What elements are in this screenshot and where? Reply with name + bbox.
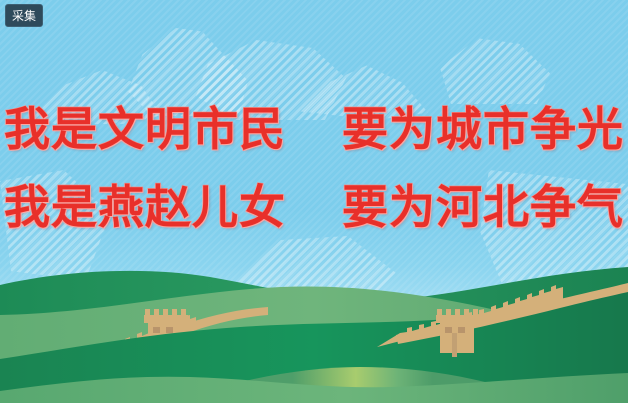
slogan-line-1: 我是文明市民 要为城市争光 bbox=[0, 106, 628, 152]
landscape-illustration bbox=[0, 263, 628, 403]
slogan-line-2-left: 我是燕赵儿女 bbox=[4, 180, 286, 234]
slogan-line-1-right: 要为城市争光 bbox=[342, 102, 624, 156]
banner-canvas: 我是文明市民 要为城市争光 我是燕赵儿女 要为河北争气 bbox=[0, 0, 628, 403]
slogan-line-1-left: 我是文明市民 bbox=[4, 102, 286, 156]
capture-button[interactable]: 采集 bbox=[5, 4, 43, 27]
slogan-line-2-right: 要为河北争气 bbox=[342, 180, 624, 234]
slogan-line-2: 我是燕赵儿女 要为河北争气 bbox=[0, 184, 628, 230]
watchtower-right bbox=[436, 309, 478, 357]
